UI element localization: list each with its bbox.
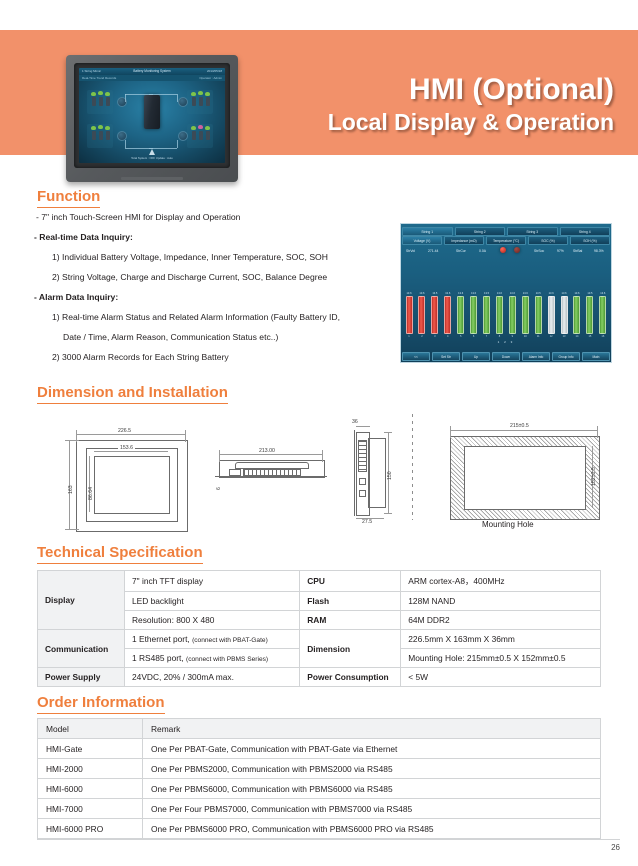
bar-column: 13.61 — [405, 292, 413, 338]
order-header-remark: Remark — [143, 719, 601, 739]
device-screen-footer: Total System : OFF Update : Auto — [131, 156, 173, 160]
device-mimic-battery-12 — [206, 131, 210, 140]
device-screen-top-right: 2013/05/18 — [207, 69, 222, 73]
spec-value-flash: 128M NAND — [401, 592, 601, 611]
dim-label-top-depth: 6 — [216, 487, 222, 490]
dim-label-inner-height: 86.64 — [88, 487, 94, 500]
bar-column: 13.614 — [573, 292, 581, 338]
table-row: Communication 1 Ethernet port, (connect … — [38, 630, 601, 649]
hmi-software-screenshot: String 1 String 2 String 3 String 4 Volt… — [400, 223, 612, 363]
measure-tab-impedance[interactable]: Impedance (mΩ) — [444, 236, 484, 245]
device-mimic-battery-9 — [106, 131, 110, 140]
bar-fill — [509, 296, 516, 334]
page-subtitle: Local Display & Operation — [328, 111, 614, 134]
bar-fill — [406, 296, 413, 334]
order-model-2: HMI-6000 — [38, 779, 143, 799]
device-mimic-leaf-10 — [191, 126, 196, 130]
spec-comm-2-main: 1 RS485 port, — [132, 653, 184, 663]
spec-label-power-supply: Power Supply — [38, 668, 125, 687]
device-mimic-drop-3 — [125, 140, 126, 148]
button-set-string[interactable]: Set Str — [432, 352, 460, 361]
readout-strvol-label: StrVol — [406, 249, 415, 253]
spec-value-power-consumption: < 5W — [401, 668, 601, 687]
device-mimic-drop-4 — [177, 140, 178, 148]
measure-tab-temperature[interactable]: Temperature (°C) — [486, 236, 526, 245]
order-model-3: HMI-7000 — [38, 799, 143, 819]
side-port-2 — [359, 490, 366, 497]
table-row: Display 7" inch TFT display CPU ARM cort… — [38, 571, 601, 592]
bar-value: 13.5 — [536, 292, 541, 295]
dim-label-inner-width: 153.6 — [118, 445, 135, 451]
readout-strsoc-label: StrSoc — [534, 249, 544, 253]
ext-line-mw-l — [450, 426, 451, 438]
dim-label-side-height: 150 — [387, 471, 393, 480]
bar-value: 13.6 — [406, 292, 411, 295]
ext-line-ow-r — [185, 430, 186, 442]
front-view-drawing: 226.5 153.6 163 86.64 — [58, 428, 193, 532]
page-title: HMI (Optional) — [328, 75, 614, 105]
device-mimic-battery-4 — [192, 97, 196, 106]
spec-label-ram: RAM — [300, 611, 401, 630]
ext-line-oh-t — [65, 440, 79, 441]
spec-value-display-3: Resolution: 800 X 480 — [125, 611, 300, 630]
bar-value: 13.6 — [574, 292, 579, 295]
bar-fill — [431, 296, 438, 334]
spec-label-cpu: CPU — [300, 571, 401, 592]
spec-label-power-consumption: Power Consumption — [300, 668, 401, 687]
button-group-info[interactable]: Group Info — [552, 352, 580, 361]
bar-id: 13 — [563, 335, 566, 338]
dim-line-mount-width — [450, 430, 598, 431]
ext-line-sh-b — [384, 513, 392, 514]
drawing-separator — [412, 414, 413, 520]
order-model-1: HMI-2000 — [38, 759, 143, 779]
measure-tab-voltage[interactable]: Voltage (V) — [402, 236, 442, 245]
device-mimic-link-2 — [149, 94, 177, 95]
bar-fill — [522, 296, 529, 334]
device-mimic-leaf-3 — [105, 92, 110, 96]
section-heading-order: Order Information — [37, 694, 165, 714]
dim-label-outer-height: 163 — [68, 485, 74, 494]
dim-label-side-foot: 27.5 — [362, 519, 372, 525]
spec-label-flash: Flash — [300, 592, 401, 611]
device-mimic-leaf-4 — [191, 92, 196, 96]
device-stand — [121, 177, 183, 180]
bar-id: 2 — [421, 335, 422, 338]
bar-id: 15 — [588, 335, 591, 338]
bar-value: 13.6 — [471, 292, 476, 295]
side-vent-strip — [358, 440, 367, 472]
bar-fill — [548, 296, 555, 334]
device-mimic-battery-6 — [206, 97, 210, 106]
spec-label-display: Display — [38, 571, 125, 630]
device-mimic-leaf-11 — [198, 125, 203, 129]
device-mimic-drop-1 — [125, 94, 126, 102]
mounting-cutout — [464, 446, 586, 510]
spec-comm-2-note: (connect with PBMS Series) — [186, 656, 268, 663]
order-header-model: Model — [38, 719, 143, 739]
spec-value-display-1: 7" inch TFT display — [125, 571, 300, 592]
ext-line-sh-t — [384, 432, 392, 433]
readout-strbal-value: 98.3% — [594, 249, 604, 253]
button-up[interactable]: Up — [462, 352, 490, 361]
pagination-indicator[interactable]: 1 2 3 — [498, 340, 515, 344]
device-mimic-battery-10 — [192, 131, 196, 140]
bar-id: 7 — [486, 335, 487, 338]
device-mimic-battery-8 — [99, 131, 103, 140]
bar-fill — [470, 296, 477, 334]
table-header-row: Model Remark — [38, 719, 601, 739]
device-mimic-leaf-1 — [91, 92, 96, 96]
dim-label-mount-height: 152±0.5 — [591, 467, 597, 486]
device-mimic-battery-3 — [106, 97, 110, 106]
device-mimic-meter-3 — [117, 131, 127, 141]
device-mimic-leaf-2 — [98, 91, 103, 95]
table-row: HMI-2000 One Per PBMS2000, Communication… — [38, 759, 601, 779]
spec-value-dimension-1: 226.5mm X 163mm X 36mm — [401, 630, 601, 649]
dim-line-outer-width — [76, 434, 186, 435]
side-view-drawing: 36 150 27.5 — [340, 418, 420, 528]
spec-value-comm-1: 1 Ethernet port, (connect with PBAT-Gate… — [125, 630, 300, 649]
measure-tab-soc[interactable]: SOC (%) — [528, 236, 568, 245]
bar-value: 13.5 — [432, 292, 437, 295]
measure-tab-row: Voltage (V) Impedance (mΩ) Temperature (… — [401, 236, 611, 245]
top-view-drawing: 213.00 6 — [213, 442, 333, 496]
readout-strsoc-value: 97% — [557, 249, 564, 253]
device-mimic-drop-2 — [177, 94, 178, 102]
mounting-hole-drawing: 215±0.5 152±0.5 Mounting Hole — [430, 418, 610, 530]
top-connector-a — [229, 469, 241, 476]
bar-fill — [418, 296, 425, 334]
order-remark-2: One Per PBMS6000, Communication with PBM… — [143, 779, 601, 799]
table-row: HMI-6000 PRO One Per PBMS6000 PRO, Commu… — [38, 819, 601, 839]
alarm-led-dim-icon — [514, 247, 520, 253]
function-list: - 7" inch Touch-Screen HMI for Display a… — [30, 207, 420, 367]
bar-value: 13.6 — [523, 292, 528, 295]
bar-value: 13.6 — [419, 292, 424, 295]
order-remark-0: One Per PBAT-Gate, Communication with PB… — [143, 739, 601, 759]
ext-line-mw-r — [597, 426, 598, 438]
spec-value-power-supply: 24VDC, 20% / 300mA max. — [125, 668, 300, 687]
device-screen-title: Battery Monitoring System — [133, 69, 170, 73]
dim-line-top-width — [219, 454, 323, 455]
bar-column: 13.68 — [495, 292, 503, 338]
section-heading-technical: Technical Specification — [37, 544, 203, 564]
bar-column: 13.511 — [534, 292, 542, 338]
bar-column: 13.66 — [470, 292, 478, 338]
device-mimic-leaf-8 — [98, 125, 103, 129]
side-rear-body — [368, 438, 386, 508]
device-mimic-battery-1 — [92, 97, 96, 106]
device-mimic-battery-2 — [99, 97, 103, 106]
alarm-led-active-icon — [500, 247, 506, 253]
bar-id: 12 — [550, 335, 553, 338]
bar-value: 13.5 — [484, 292, 489, 295]
bar-fill — [496, 296, 503, 334]
dimension-drawings: 226.5 153.6 163 86.64 213.00 6 36 — [30, 412, 610, 537]
string-tab-3[interactable]: String 3 — [507, 227, 558, 236]
bar-id: 11 — [537, 335, 540, 338]
device-mimic-central-unit — [144, 95, 160, 129]
device-mimic-battery-7 — [92, 131, 96, 140]
table-row: HMI-7000 One Per Four PBMS7000, Communic… — [38, 799, 601, 819]
hmi-device-photo: 1 String Mimic Battery Monitoring System… — [66, 55, 238, 182]
button-back[interactable]: << — [402, 352, 430, 361]
bar-fill — [444, 296, 451, 334]
bar-id: 16 — [601, 335, 604, 338]
bar-column: 13.616 — [599, 292, 607, 338]
dim-label-side-depth: 36 — [352, 419, 358, 425]
order-information-table: Model Remark HMI-Gate One Per PBAT-Gate,… — [37, 718, 601, 839]
device-mimic-meter-4 — [178, 131, 188, 141]
function-item-3: 2) String Voltage, Charge and Discharge … — [30, 267, 420, 287]
function-item-7: 2) 3000 Alarm Records for Each String Ba… — [30, 347, 420, 367]
bar-column: 13.64 — [444, 292, 452, 338]
bar-value: 13.6 — [458, 292, 463, 295]
section-heading-function: Function — [37, 188, 100, 208]
order-model-0: HMI-Gate — [38, 739, 143, 759]
device-screen-sub-right: Operator : Admin — [199, 76, 222, 80]
bar-value: 13.6 — [510, 292, 515, 295]
measure-tab-soh[interactable]: SOH (%) — [570, 236, 610, 245]
dim-line-side-depth — [356, 426, 370, 427]
bar-column: 13.62 — [418, 292, 426, 338]
spec-comm-1-note: (connect with PBAT-Gate) — [192, 637, 268, 644]
device-mimic-battery-11 — [199, 131, 203, 140]
bar-id: 9 — [512, 335, 513, 338]
function-item-0: - 7" inch Touch-Screen HMI for Display a… — [30, 207, 420, 227]
string-tab-1[interactable]: String 1 — [402, 227, 453, 236]
front-active-area — [94, 456, 170, 514]
battery-bar-chart: 13.61 13.62 13.53 13.64 13.65 13.66 13.5… — [405, 286, 607, 338]
side-edge-line — [354, 430, 355, 516]
bar-value: 13.5 — [587, 292, 592, 295]
footer-rule — [37, 839, 620, 840]
bar-column: 13.610 — [521, 292, 529, 338]
bar-id: 1 — [408, 335, 409, 338]
bar-fill — [586, 296, 593, 334]
bar-fill — [599, 296, 606, 334]
bar-value: 13.6 — [497, 292, 502, 295]
bar-column: 13.57 — [483, 292, 491, 338]
bar-value: 13.6 — [600, 292, 605, 295]
spec-label-dimension: Dimension — [300, 630, 401, 668]
bar-value: 13.6 — [445, 292, 450, 295]
device-mimic-leaf-7 — [91, 126, 96, 130]
page-number: 26 — [611, 843, 620, 852]
top-arch — [235, 462, 309, 469]
bar-column: 13.69 — [508, 292, 516, 338]
order-remark-3: One Per Four PBMS7000, Communication wit… — [143, 799, 601, 819]
bar-column: 13.515 — [586, 292, 594, 338]
function-item-4: - Alarm Data Inquiry: — [30, 287, 420, 307]
string-tab-4[interactable]: String 4 — [560, 227, 611, 236]
string-tab-row: String 1 String 2 String 3 String 4 — [401, 227, 611, 236]
bar-fill — [561, 296, 568, 334]
bar-fill — [457, 296, 464, 334]
spec-comm-1-main: 1 Ethernet port, — [132, 634, 190, 644]
string-tab-2[interactable]: String 2 — [455, 227, 506, 236]
dim-label-top-width: 213.00 — [257, 448, 277, 454]
device-screen: 1 String Mimic Battery Monitoring System… — [79, 68, 225, 163]
readout-strcur-value: 0.0A — [479, 249, 486, 253]
function-item-1: - Real-time Data Inquiry: — [30, 227, 420, 247]
ext-line-tw-r — [322, 450, 323, 462]
button-down[interactable]: Down — [492, 352, 520, 361]
banner-title-block: HMI (Optional) Local Display & Operation — [328, 75, 614, 134]
order-remark-1: One Per PBMS2000, Communication with PBM… — [143, 759, 601, 779]
order-remark-4: One Per PBMS6000 PRO, Communication with… — [143, 819, 601, 839]
button-main[interactable]: Main — [582, 352, 610, 361]
readout-strvol-value: 271.44 — [428, 249, 438, 253]
bar-column: 13.53 — [431, 292, 439, 338]
spec-value-dimension-2: Mounting Hole: 215mm±0.5 X 152mm±0.5 — [401, 649, 601, 668]
spec-value-comm-2: 1 RS485 port, (connect with PBMS Series) — [125, 649, 300, 668]
function-item-5: 1) Real-time Alarm Status and Related Al… — [30, 307, 420, 327]
bar-id: 14 — [576, 335, 579, 338]
dim-line-inner-height — [89, 456, 90, 512]
ext-line-oh-b — [65, 529, 79, 530]
ext-line-tw-l — [219, 450, 220, 462]
bar-value: 13.6 — [549, 292, 554, 295]
spec-value-display-2: LED backlight — [125, 592, 300, 611]
spec-value-ram: 64M DDR2 — [401, 611, 601, 630]
bar-id: 5 — [460, 335, 461, 338]
function-item-6: Date / Time, Alarm Reason, Communication… — [30, 327, 420, 347]
device-bezel: 1 String Mimic Battery Monitoring System… — [74, 63, 230, 168]
top-connector-strip — [243, 469, 301, 476]
readout-strcur-label: StrCur — [456, 249, 466, 253]
device-mimic-meter-1 — [117, 97, 127, 107]
bar-id: 10 — [524, 335, 527, 338]
bar-column: 13.612 — [547, 292, 555, 338]
section-heading-dimension: Dimension and Installation — [37, 384, 228, 404]
bar-column: 13.65 — [457, 292, 465, 338]
device-mimic-battery-5 — [199, 97, 203, 106]
spec-label-communication: Communication — [38, 630, 125, 668]
dim-label-mount-width: 215±0.5 — [508, 423, 531, 429]
bar-id: 4 — [447, 335, 448, 338]
readout-strbal-label: StrBal — [573, 249, 582, 253]
button-alarm-info[interactable]: Alarm Info — [522, 352, 550, 361]
bar-id: 6 — [473, 335, 474, 338]
device-mimic-meter-2 — [178, 97, 188, 107]
device-mimic-leaf-6 — [205, 92, 210, 96]
software-button-row: << Set Str Up Down Alarm Info Group Info… — [401, 352, 611, 361]
table-row: Power Supply 24VDC, 20% / 300mA max. Pow… — [38, 668, 601, 687]
top-base-line — [215, 476, 327, 477]
bar-column: 13.613 — [560, 292, 568, 338]
order-model-4: HMI-6000 PRO — [38, 819, 143, 839]
device-mimic-leaf-9 — [105, 126, 110, 130]
bar-value: 13.6 — [562, 292, 567, 295]
table-row: HMI-6000 One Per PBMS6000, Communication… — [38, 779, 601, 799]
device-mimic-leaf-5 — [198, 91, 203, 95]
bar-id: 8 — [499, 335, 500, 338]
function-item-2: 1) Individual Battery Voltage, Impedance… — [30, 247, 420, 267]
device-screen-top-left: 1 String Mimic — [82, 69, 101, 73]
dim-line-inner-width — [94, 451, 168, 452]
bar-id: 3 — [434, 335, 435, 338]
bar-fill — [573, 296, 580, 334]
bar-fill — [535, 296, 542, 334]
spec-value-cpu: ARM cortex-A8，400MHz — [401, 571, 601, 592]
table-row: HMI-Gate One Per PBAT-Gate, Communicatio… — [38, 739, 601, 759]
device-mimic-ground-symbol — [149, 149, 155, 155]
device-mimic-leaf-12 — [205, 126, 210, 130]
mounting-hole-caption: Mounting Hole — [482, 520, 534, 529]
side-port-1 — [359, 478, 366, 485]
dim-label-outer-width: 226.5 — [116, 428, 133, 434]
bar-fill — [483, 296, 490, 334]
device-screen-sub-left: Real-Time Trend Records — [82, 76, 116, 80]
technical-specification-table: Display 7" inch TFT display CPU ARM cort… — [37, 570, 601, 687]
